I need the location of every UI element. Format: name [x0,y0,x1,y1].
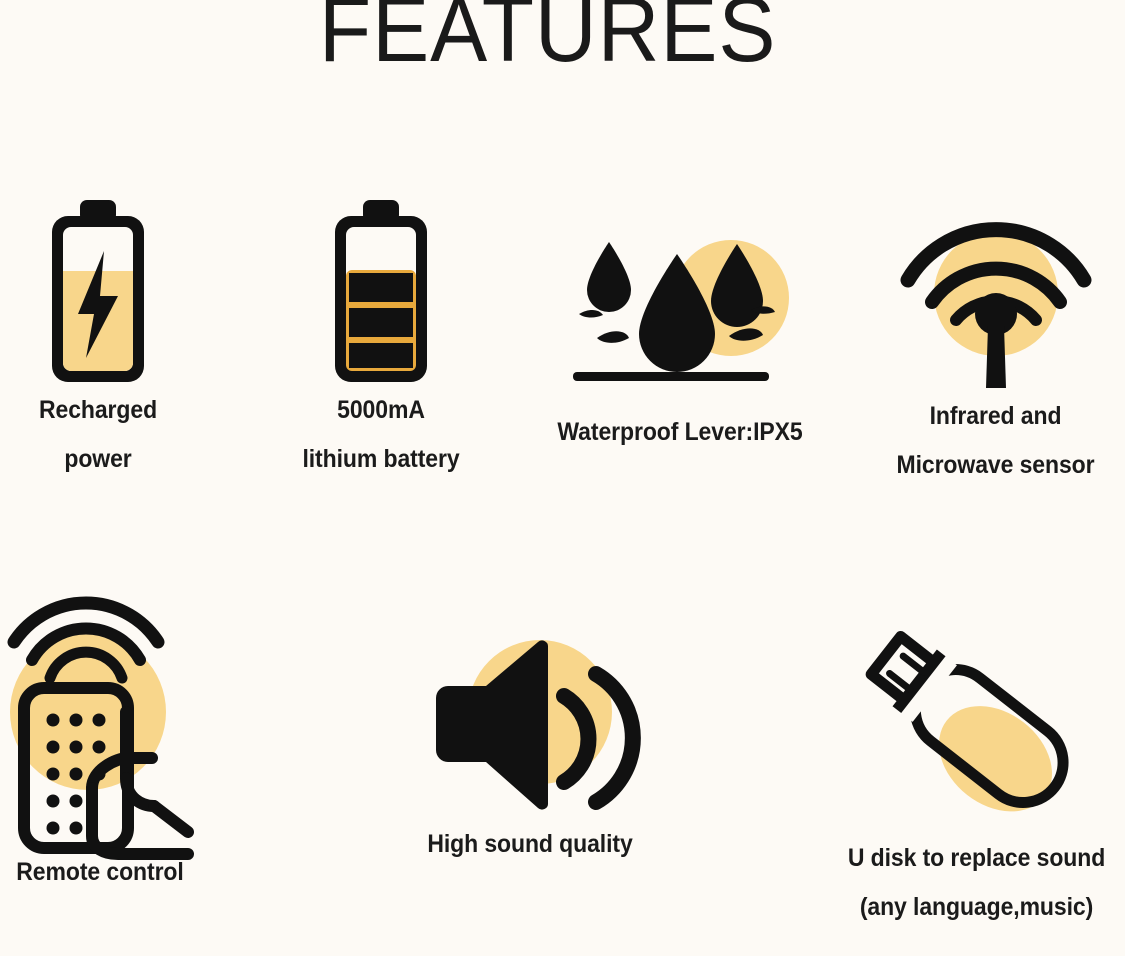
feature-caption-line1: 5000mA [337,396,425,424]
feature-card-u-disk: U disk to replace sound (any language,mu… [828,614,1125,932]
feature-caption: Waterproof Lever:IPX5 [533,408,827,457]
feature-caption-line2: power [8,435,188,484]
feature-card-remote-control: Remote control [0,592,208,897]
remote-control-hand-icon [0,592,208,854]
feature-caption-line1: High sound quality [427,830,632,858]
feature-caption: Recharged power [8,386,188,484]
battery-full-icon [323,196,439,386]
feature-caption-line1: Recharged [39,396,157,424]
page-title: FEATURES [24,0,1070,76]
feature-caption-line2: lithium battery [262,435,499,484]
feature-caption: Remote control [1,848,200,897]
feature-card-sensor: Infrared and Microwave sensor [866,196,1125,490]
features-infographic: FEATURES Recharged power [0,0,1125,956]
feature-caption: Infrared and Microwave sensor [876,392,1114,490]
feature-caption-line2: (any language,music) [840,883,1113,932]
feature-caption-line1: U disk to replace sound [848,844,1105,872]
feature-card-recharged-power: Recharged power [0,196,196,484]
usb-flash-drive-icon [845,614,1109,834]
feature-caption: High sound quality [410,820,649,869]
feature-caption-line2: Microwave sensor [876,441,1114,490]
feature-card-lithium-battery: 5000mA lithium battery [252,196,510,484]
feature-caption-line1: Waterproof Lever:IPX5 [557,418,802,446]
feature-caption-line1: Infrared and [930,402,1062,430]
feature-caption: 5000mA lithium battery [262,386,499,484]
feature-caption: U disk to replace sound (any language,mu… [840,834,1113,932]
feature-caption-line1: Remote control [16,858,183,886]
battery-charging-icon [38,196,158,386]
speaker-sound-icon [430,630,630,820]
antenna-signal-icon [896,196,1096,392]
water-drops-icon [565,222,795,408]
feature-card-waterproof: Waterproof Lever:IPX5 [520,222,840,457]
feature-card-sound-quality: High sound quality [400,630,660,869]
